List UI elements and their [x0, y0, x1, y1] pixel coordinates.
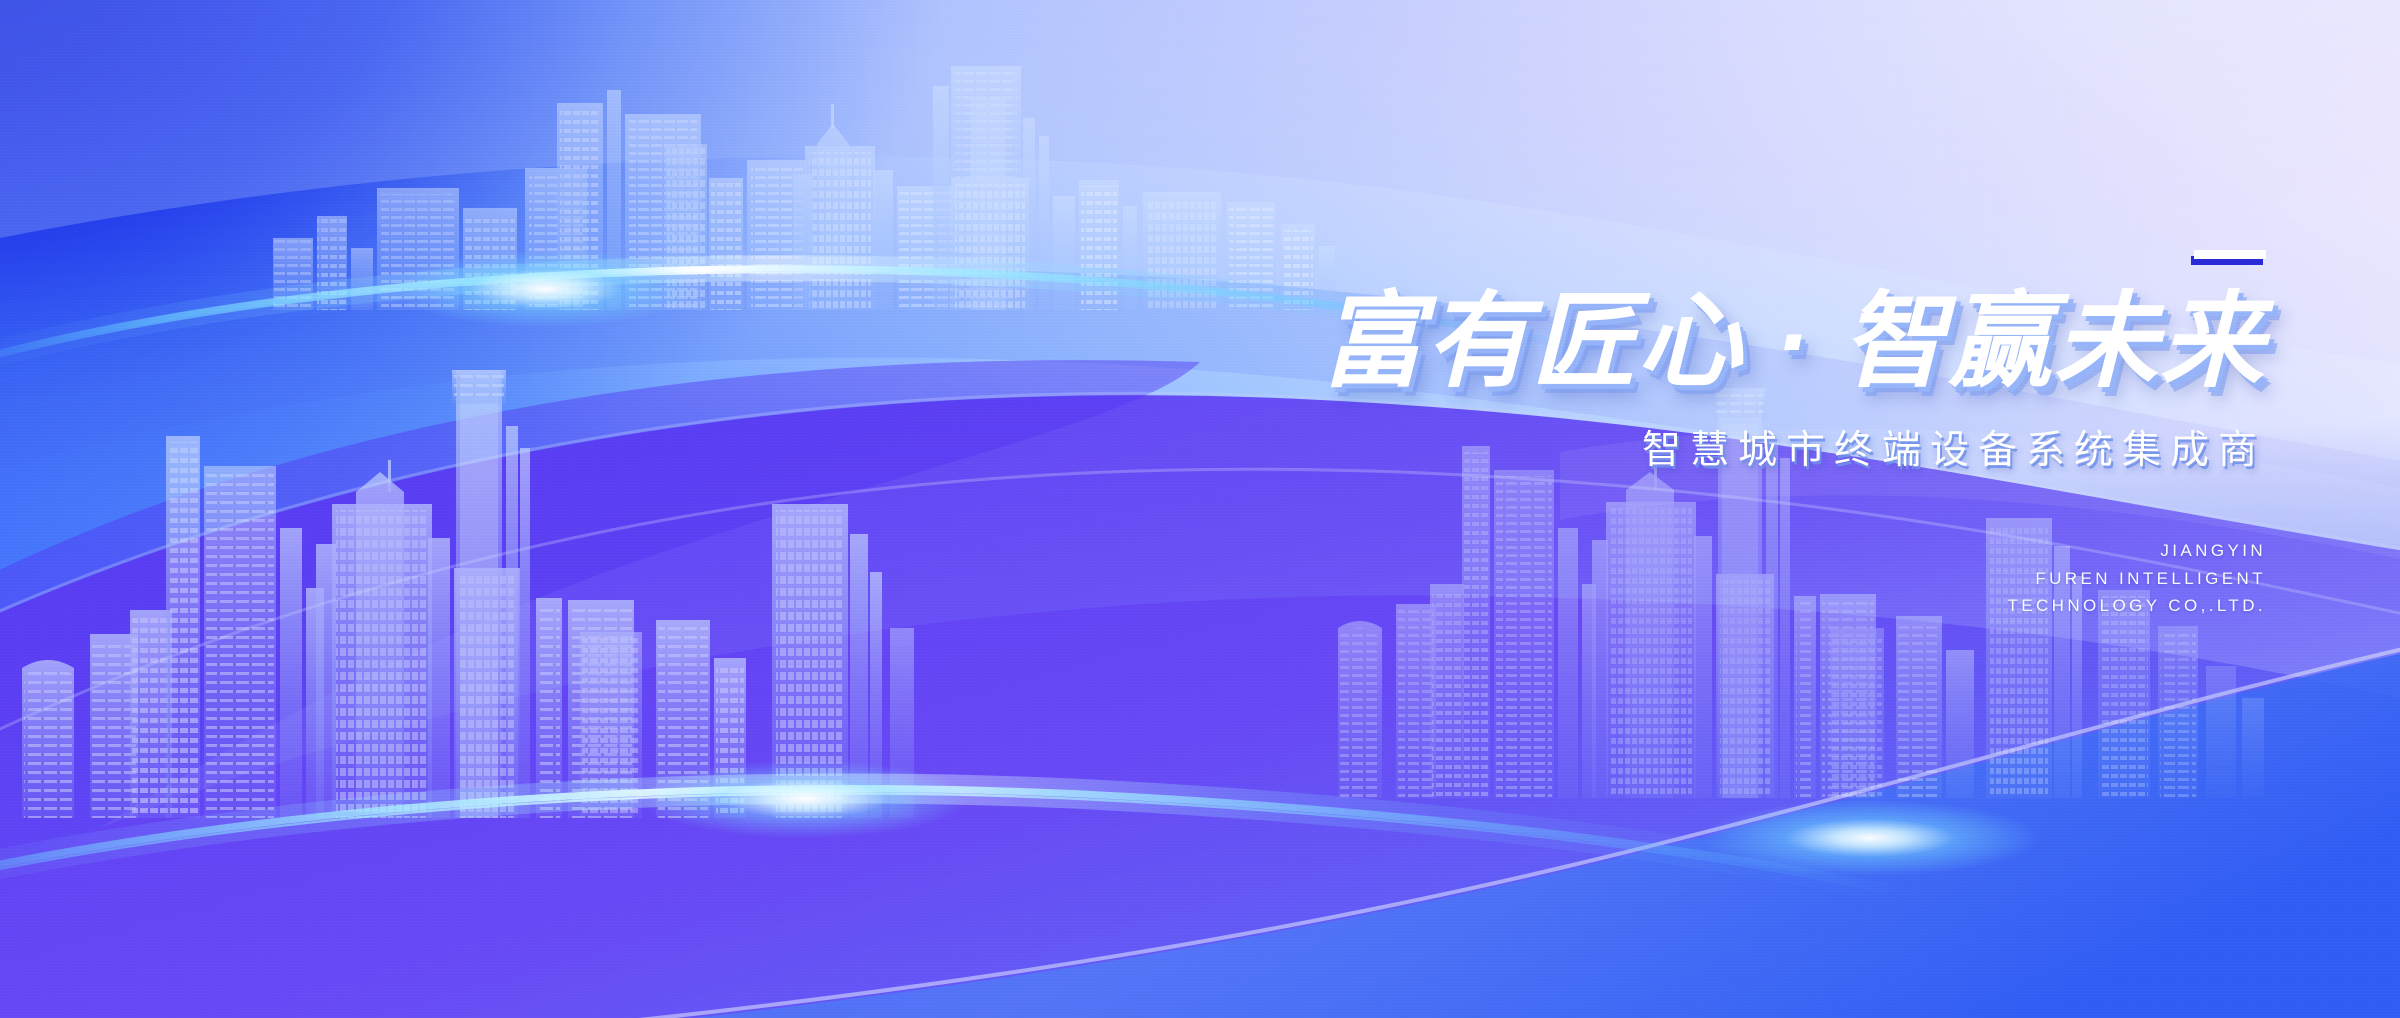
company-name: JIANGYIN FUREN INTELLIGENT TECHNOLOGY CO… — [1146, 537, 2266, 620]
accent-rule-wrap — [1146, 250, 2266, 259]
skyline-lower-left — [0, 348, 980, 818]
banner-canvas: 富有匠心 · 智赢未来 智慧城市终端设备系统集成商 JIANGYIN FUREN… — [0, 0, 2400, 1018]
page-subtitle: 智慧城市终端设备系统集成商 — [1146, 419, 2266, 475]
accent-rule-icon — [2194, 250, 2266, 259]
page-title: 富有匠心 · 智赢未来 — [1146, 287, 2266, 397]
company-line-1: JIANGYIN — [1146, 537, 2266, 565]
banner-text-block: 富有匠心 · 智赢未来 智慧城市终端设备系统集成商 JIANGYIN FUREN… — [1146, 250, 2266, 620]
company-line-3: TECHNOLOGY CO,.LTD. — [1146, 592, 2266, 620]
company-line-2: FUREN INTELLIGENT — [1146, 565, 2266, 593]
